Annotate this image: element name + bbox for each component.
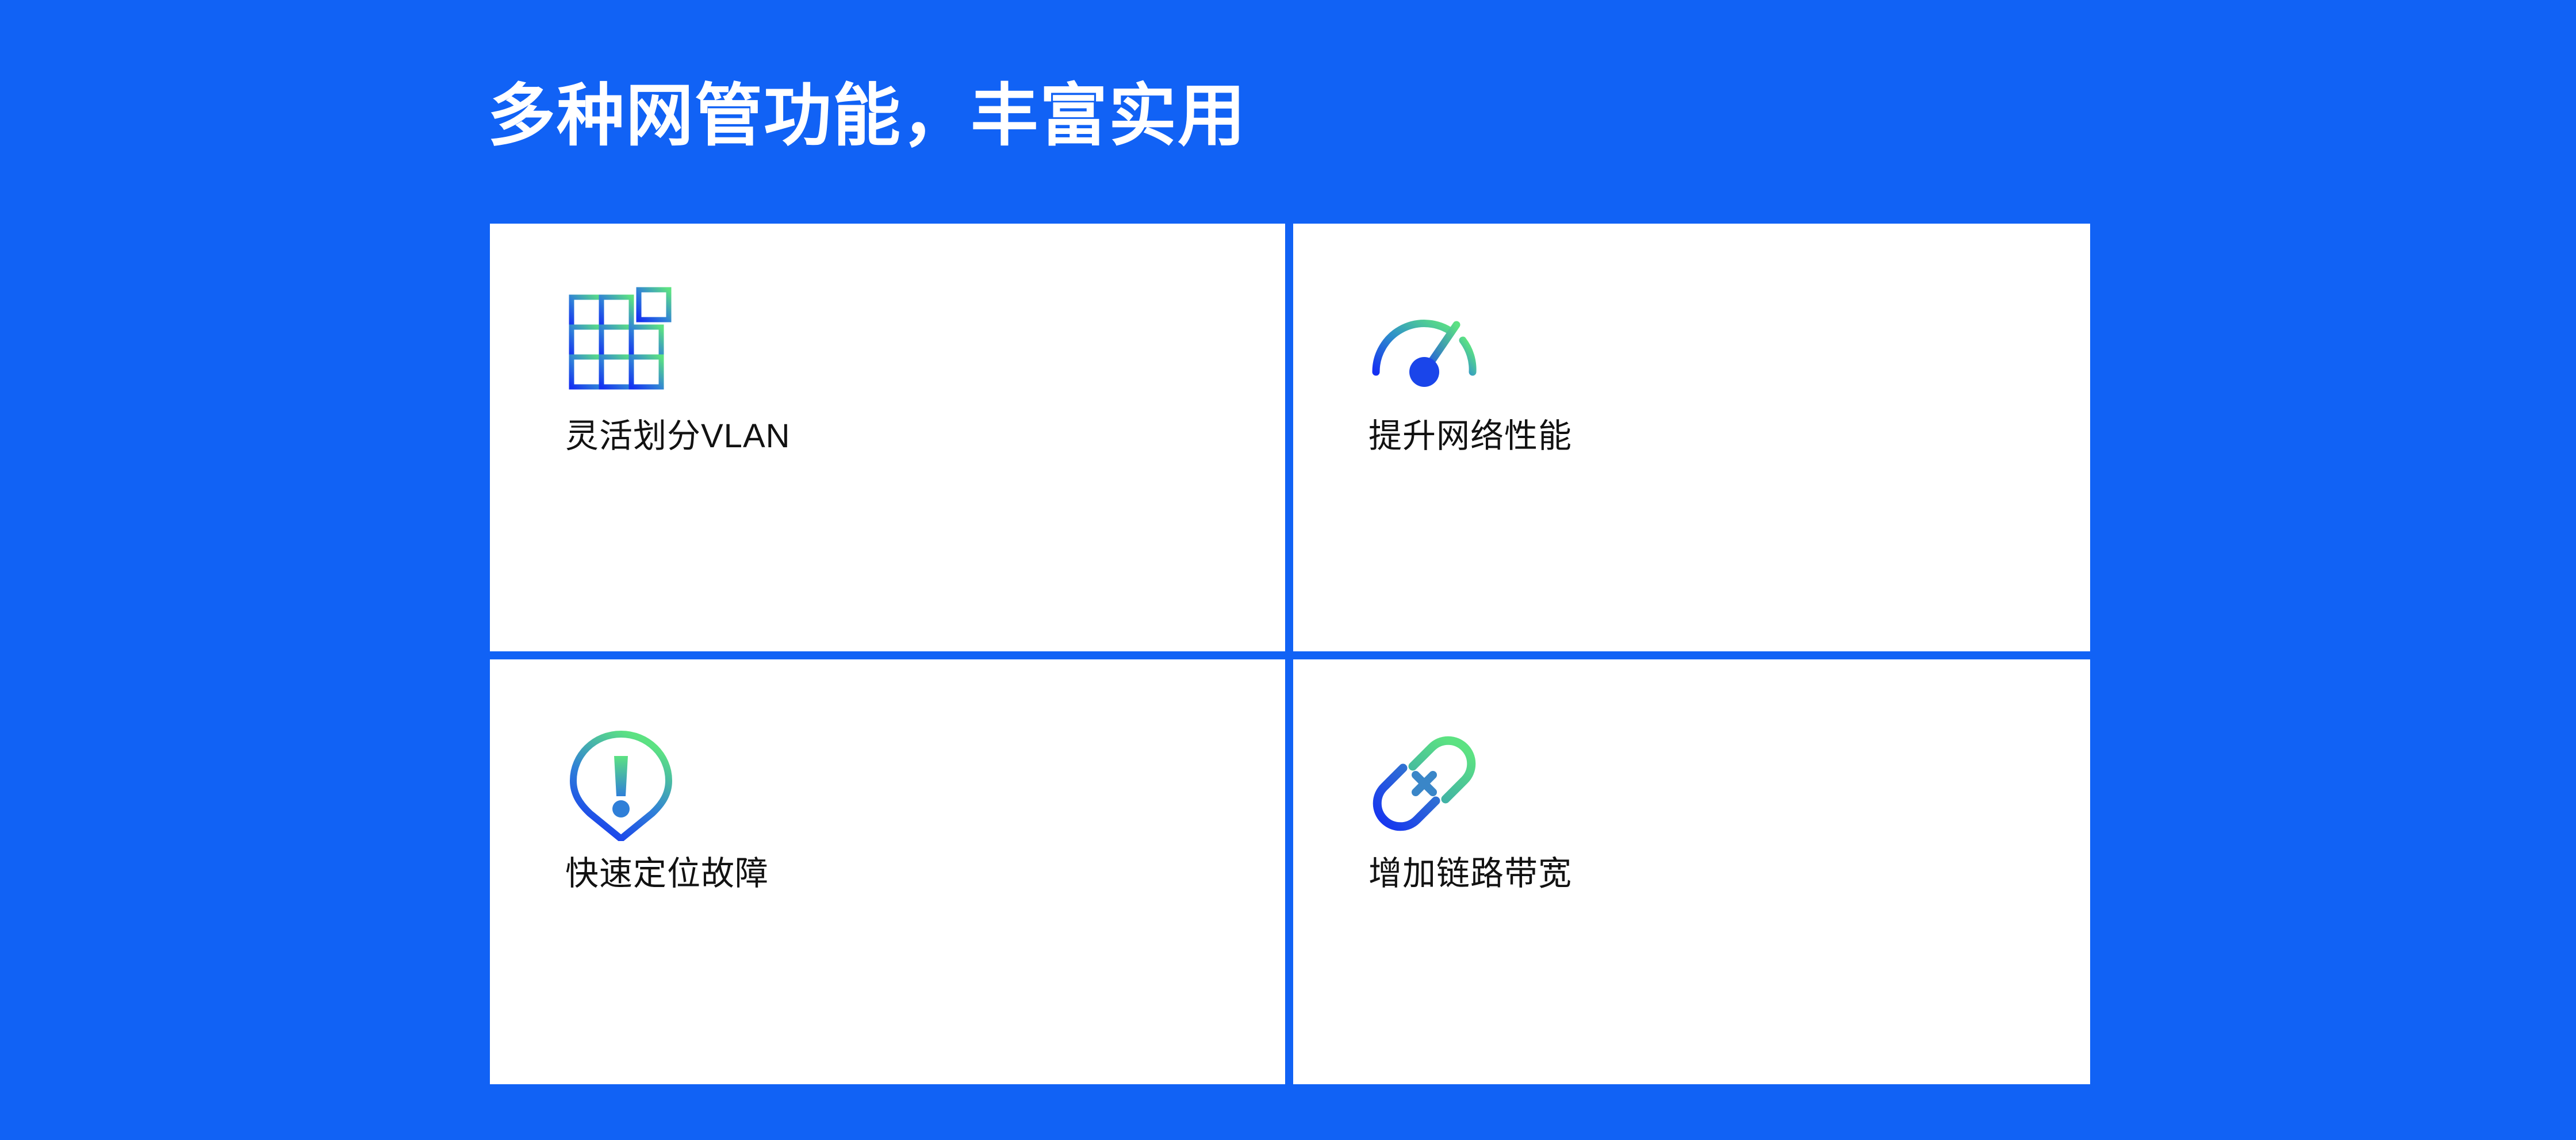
location-pin-alert-icon bbox=[563, 726, 678, 841]
speedometer-icon bbox=[1367, 287, 1482, 402]
feature-label: 灵活划分VLAN bbox=[565, 416, 791, 456]
page-title: 多种网管功能，丰富实用 bbox=[488, 72, 1247, 160]
feature-card-grid: 灵活划分VLAN bbox=[490, 224, 2090, 1084]
feature-section: 多种网管功能，丰富实用 bbox=[0, 0, 2576, 1140]
feature-card-performance[interactable]: 提升网络性能 bbox=[1293, 224, 2090, 651]
vlan-grid-icon bbox=[563, 287, 678, 402]
broken-link-icon bbox=[1367, 726, 1482, 841]
feature-label: 提升网络性能 bbox=[1368, 416, 1572, 456]
feature-card-vlan[interactable]: 灵活划分VLAN bbox=[490, 224, 1285, 651]
feature-label: 快速定位故障 bbox=[565, 854, 769, 894]
feature-card-link-bandwidth[interactable]: 增加链路带宽 bbox=[1293, 659, 2090, 1084]
feature-card-fault-location[interactable]: 快速定位故障 bbox=[490, 659, 1285, 1084]
feature-label: 增加链路带宽 bbox=[1368, 854, 1572, 894]
